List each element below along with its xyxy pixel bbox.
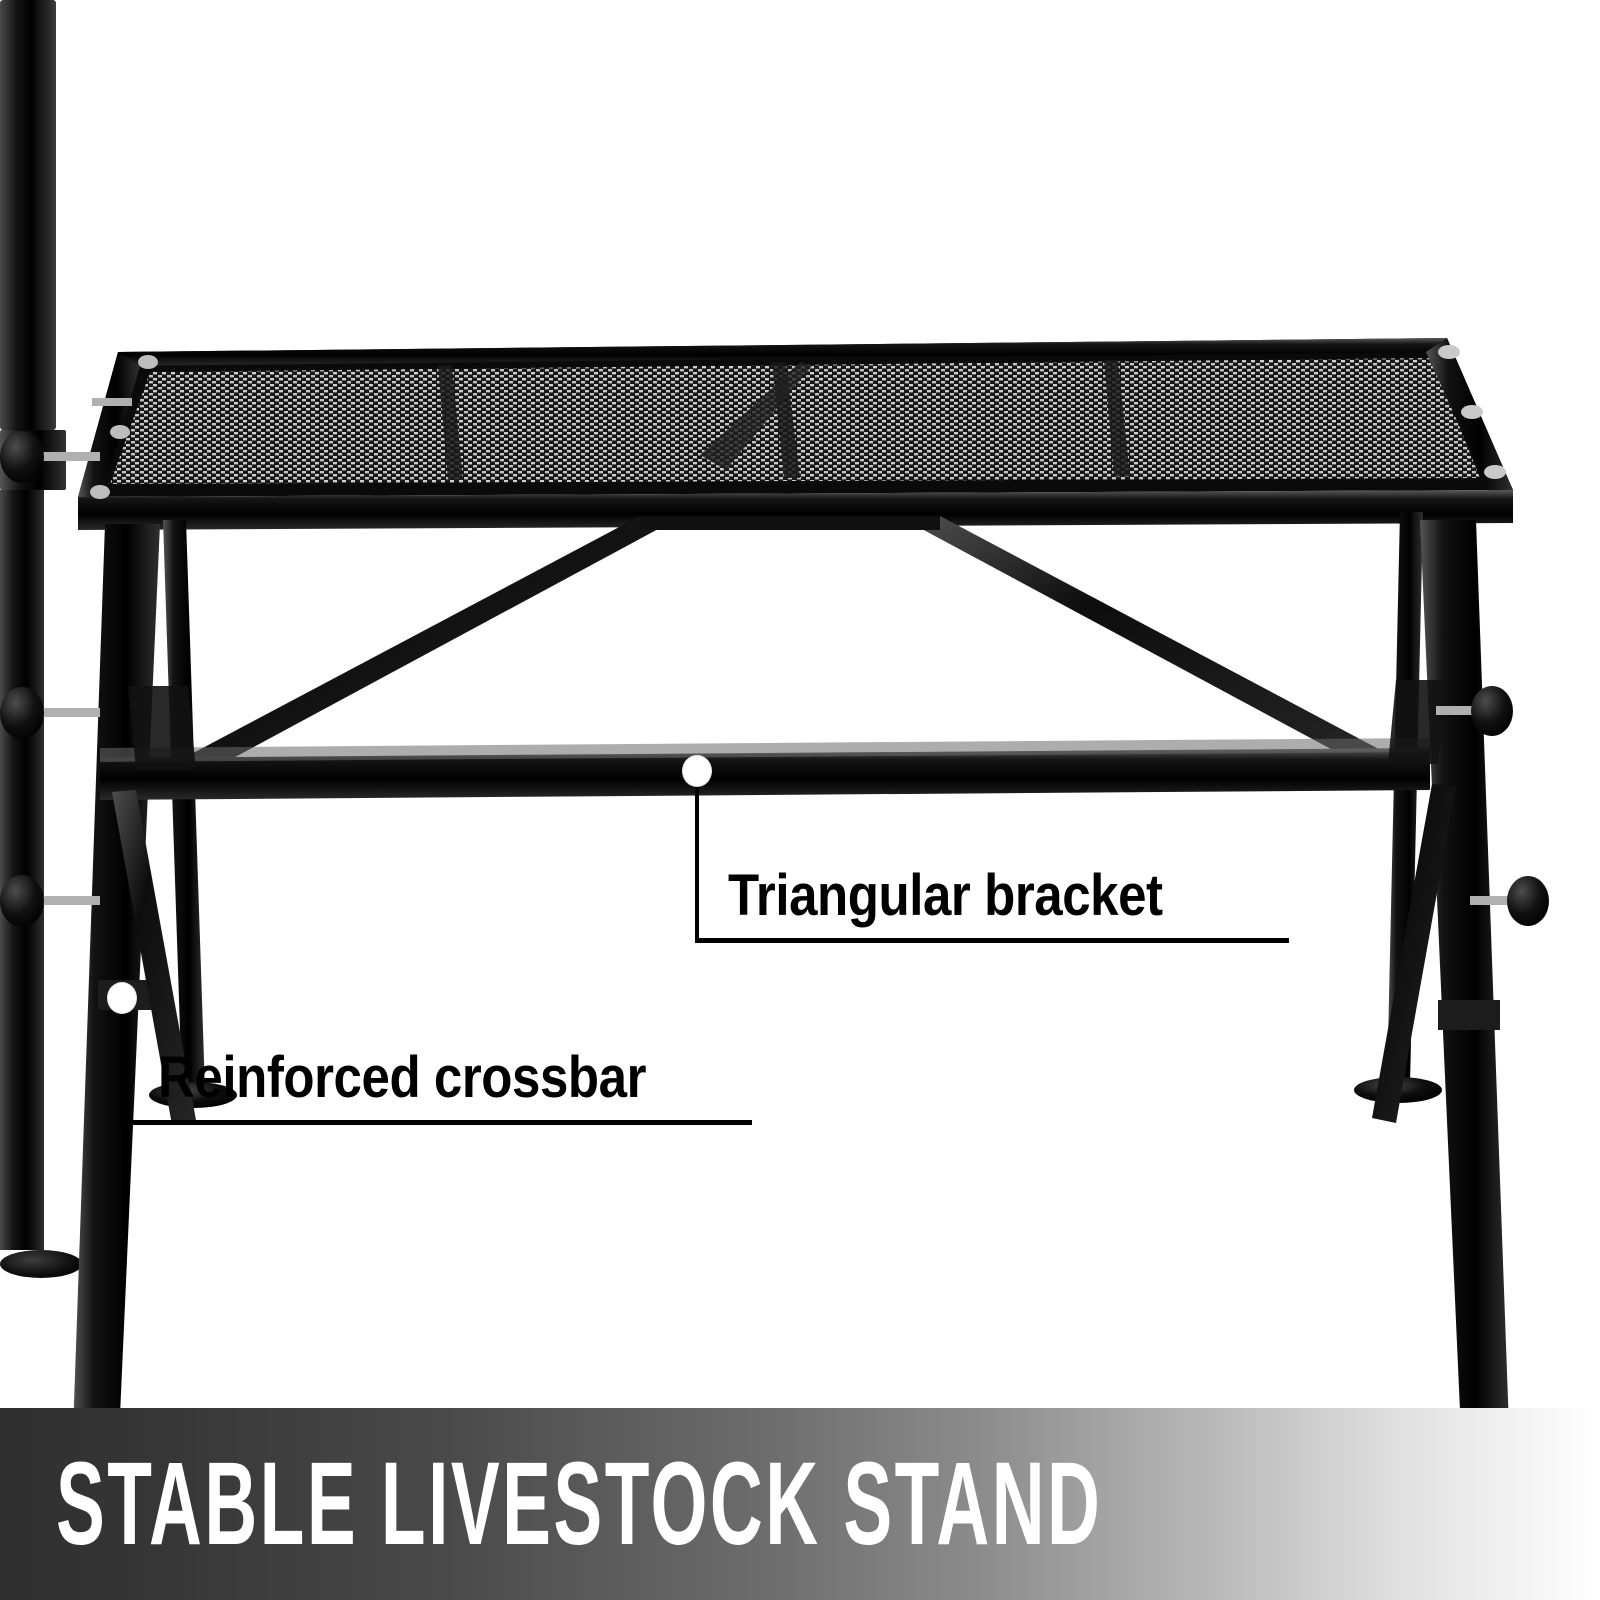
banner-headline: STABLE LIVESTOCK STAND: [56, 1436, 1102, 1572]
product-photograph: Triangular bracket Reinforced crossbar: [0, 0, 1600, 1408]
adjustment-knob-left-2: [0, 687, 100, 739]
adjustment-knob-left-3: [0, 875, 100, 927]
callout-leader-line-triangular-bracket: [695, 770, 699, 943]
callout-leader-line-reinforced-crossbar: [120, 997, 124, 1125]
callout-anchor-dot-triangular-bracket: [683, 756, 711, 786]
leg-sleeve-right: [1438, 1000, 1500, 1030]
product-image-canvas: Triangular bracket Reinforced crossbar S…: [0, 0, 1600, 1600]
stand-structure-svg: [0, 0, 1600, 1408]
bottom-banner: STABLE LIVESTOCK STAND: [0, 1408, 1600, 1600]
leg-front-right: [1420, 520, 1510, 1408]
callout-underline-reinforced-crossbar: [120, 1120, 752, 1125]
callout-underline-triangular-bracket: [695, 938, 1289, 943]
callout-label-triangular-bracket: Triangular bracket: [728, 862, 1163, 929]
rear-rail-left: [128, 686, 196, 770]
rear-rail-right: [1388, 680, 1446, 764]
brace-diagonal-left: [180, 516, 660, 776]
callout-label-reinforced-crossbar: Reinforced crossbar: [158, 1044, 646, 1111]
head-post-clamp-knob: [92, 398, 132, 406]
bolt-head: [1484, 465, 1506, 479]
bolt-head: [138, 355, 158, 369]
bolt-head: [110, 425, 130, 439]
bolt-head: [1461, 405, 1483, 419]
bolt-head: [90, 485, 110, 499]
bolt-head: [1438, 345, 1460, 359]
callout-anchor-dot-reinforced-crossbar: [108, 983, 136, 1013]
brace-diagonal-right: [920, 516, 1390, 770]
brace-apex: [640, 516, 940, 530]
